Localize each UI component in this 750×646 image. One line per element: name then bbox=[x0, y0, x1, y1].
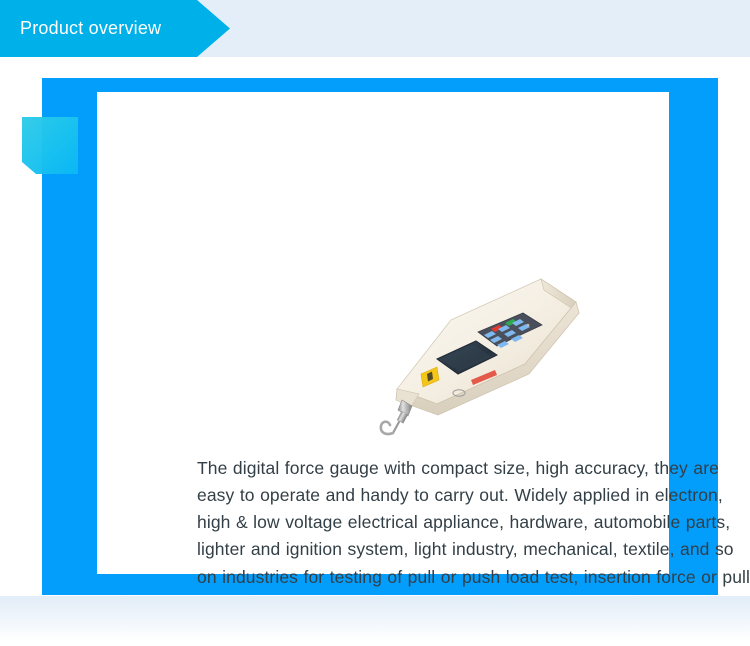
product-overview-card: The digital force gauge with compact siz… bbox=[42, 78, 718, 595]
page-title: Product overview bbox=[20, 18, 161, 39]
page-header-band: Product overview bbox=[0, 0, 750, 57]
product-overview-card-inner: The digital force gauge with compact siz… bbox=[97, 92, 669, 574]
page-footer-gradient bbox=[0, 596, 750, 641]
product-image bbox=[345, 240, 605, 440]
card-side-flap bbox=[22, 117, 78, 174]
